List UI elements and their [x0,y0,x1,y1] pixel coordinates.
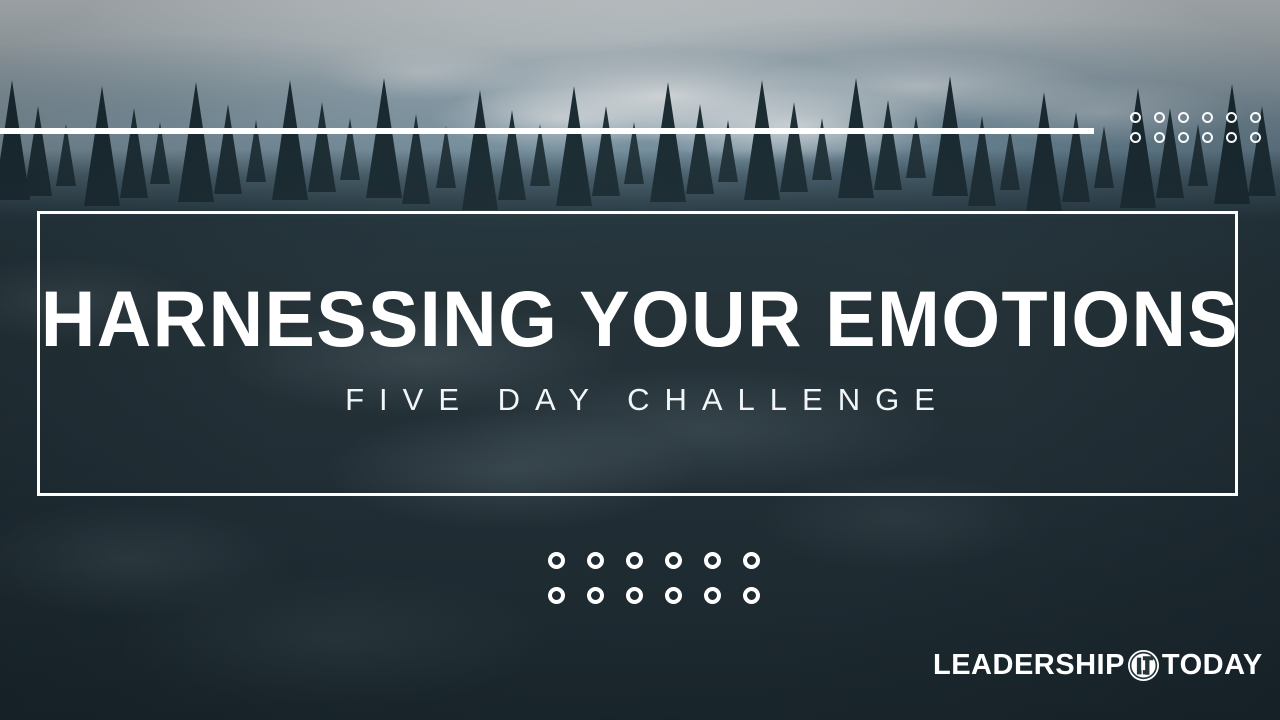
dot-ring-icon [743,552,760,569]
dot-ring-icon [587,587,604,604]
dot-ring-icon [1130,132,1141,143]
dot-ring-icon [1130,112,1141,123]
dot-ring-icon [1178,132,1189,143]
dot-ring-icon [548,587,565,604]
dot-ring-icon [1154,132,1165,143]
dot-grid-top [1130,112,1261,143]
dot-ring-icon [743,587,760,604]
dot-ring-icon [1250,132,1261,143]
dot-ring-icon [1154,112,1165,123]
dot-ring-icon [665,587,682,604]
dot-ring-icon [587,552,604,569]
brand-logo: LEADERSHIP TODAY [933,648,1263,682]
dot-ring-icon [665,552,682,569]
title-slide: HARNESSING YOUR EMOTIONS FIVE DAY CHALLE… [0,0,1280,720]
dot-ring-icon [1178,112,1189,123]
dot-ring-icon [626,552,643,569]
dot-ring-icon [1226,112,1237,123]
leadership-today-monogram-icon [1127,649,1160,682]
dot-ring-icon [626,587,643,604]
dot-ring-icon [704,552,721,569]
top-horizontal-rule [0,128,1094,134]
page-title: HARNESSING YOUR EMOTIONS [29,279,1251,358]
dot-ring-icon [1202,132,1213,143]
dot-ring-icon [1226,132,1237,143]
dot-ring-icon [548,552,565,569]
logo-word-leadership: LEADERSHIP [933,651,1125,680]
dot-ring-icon [1202,112,1213,123]
page-subtitle: FIVE DAY CHALLENGE [0,384,1280,415]
logo-word-today: TODAY [1162,651,1263,680]
dot-ring-icon [704,587,721,604]
dot-ring-icon [1250,112,1261,123]
dot-grid-bottom [548,552,760,604]
